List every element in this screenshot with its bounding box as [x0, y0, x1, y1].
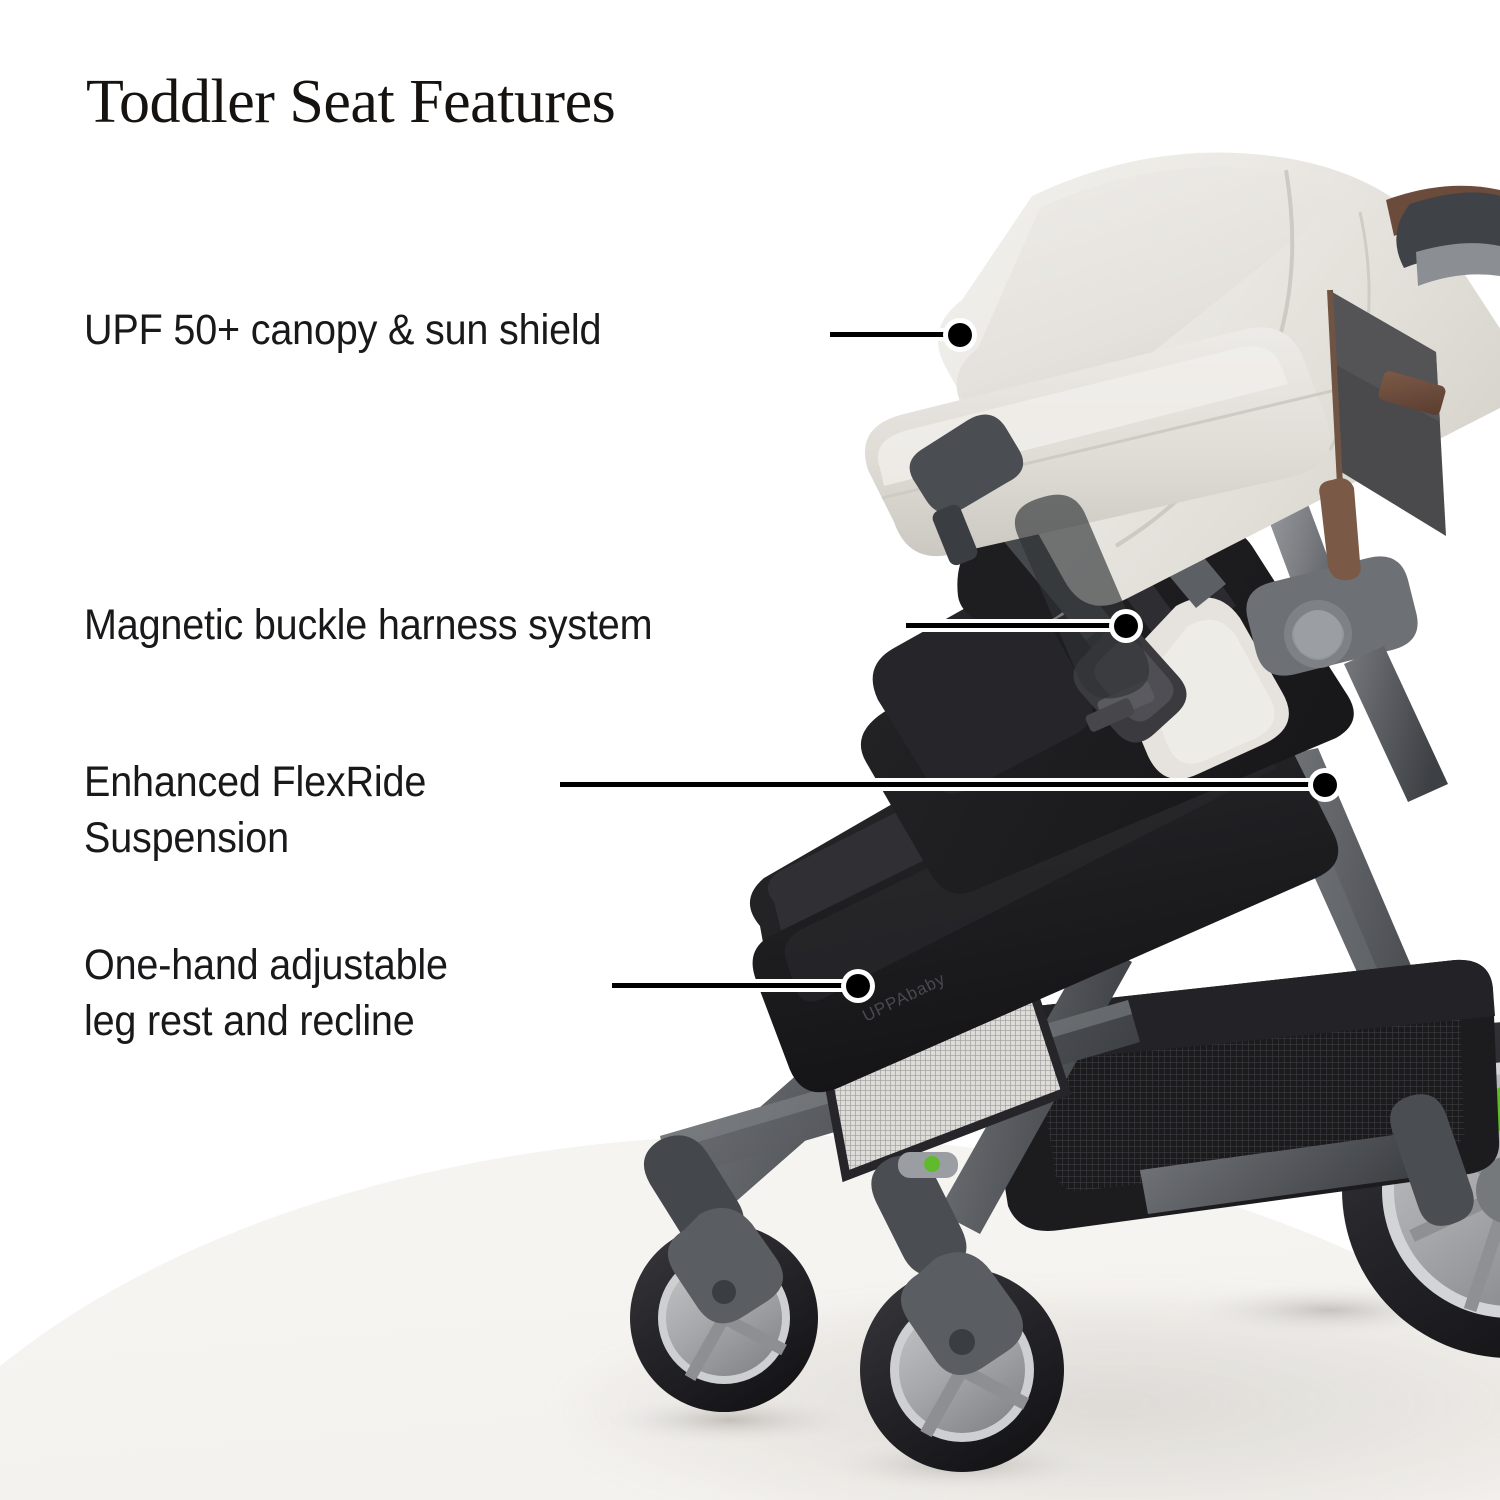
feature-label-harness: Magnetic buckle harness system: [84, 598, 652, 654]
page-title: Toddler Seat Features: [86, 70, 615, 136]
stroller-illustration: UPPAbaby: [0, 0, 1500, 1500]
feature-label-suspension: Enhanced FlexRide Suspension: [84, 755, 426, 867]
infographic-page: UPPAbaby: [0, 0, 1500, 1500]
feature-label-leg-rest: One-hand adjustable leg rest and recline: [84, 938, 448, 1050]
feature-label-canopy: UPF 50+ canopy & sun shield: [84, 303, 601, 359]
